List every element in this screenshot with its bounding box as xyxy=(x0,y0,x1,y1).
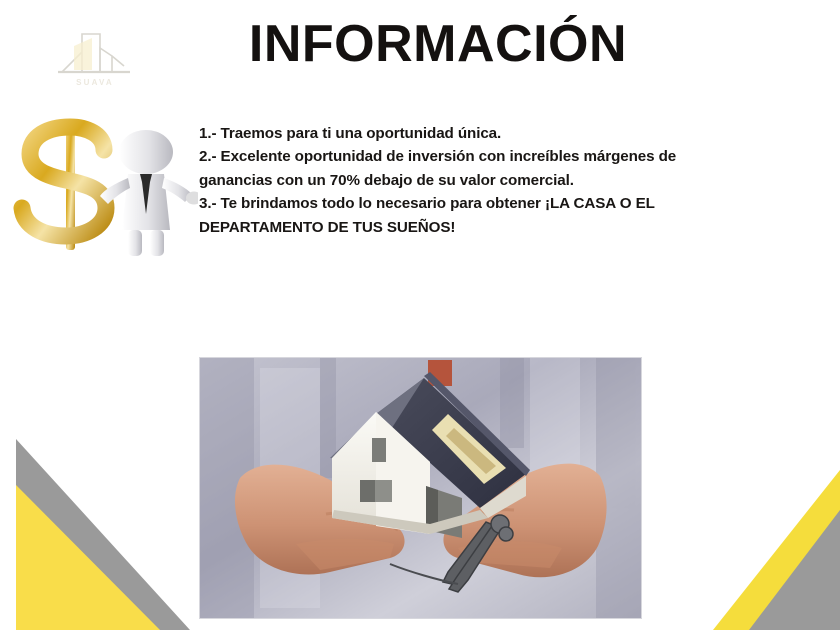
person-figure-icon xyxy=(100,130,198,256)
bullet-line-1: 1.- Traemos para ti una oportunidad únic… xyxy=(199,122,811,145)
bullet-line-3: ganancias con un 70% debajo de su valor … xyxy=(199,169,811,192)
dollar-sign-with-figure-graphic xyxy=(8,112,198,257)
dollar-sign-icon xyxy=(22,120,106,250)
hands-holding-model-house-photo xyxy=(199,357,642,619)
bullet-line-4: 3.- Te brindamos todo lo necesario para … xyxy=(199,192,811,215)
bullet-line-2: 2.- Excelente oportunidad de inversión c… xyxy=(199,145,811,168)
corner-triangles-bottom-left xyxy=(0,425,190,630)
yellow-triangle xyxy=(16,485,160,630)
corner-triangles-bottom-right xyxy=(665,440,840,630)
info-bullet-list: 1.- Traemos para ti una oportunidad únic… xyxy=(199,122,811,239)
logo-caption: SUAVA xyxy=(52,78,138,87)
slide-canvas: SUAVA INFORMACIÓN xyxy=(0,0,840,630)
bullet-line-5: DEPARTAMENTO DE TUS SUEÑOS! xyxy=(199,216,811,239)
building-logo: SUAVA xyxy=(52,26,138,92)
page-title: INFORMACIÓN xyxy=(228,14,648,74)
